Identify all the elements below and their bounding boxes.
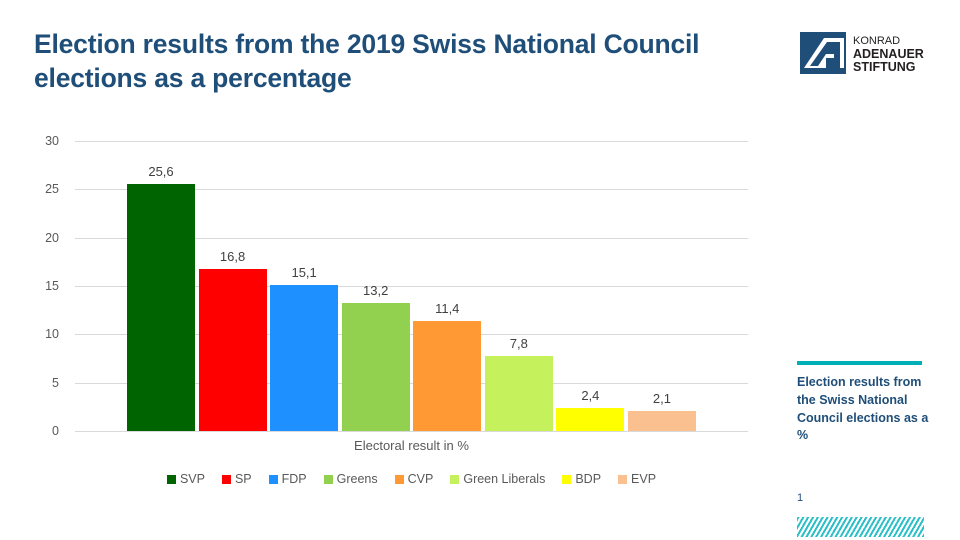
legend-item[interactable]: BDP <box>562 472 601 486</box>
logo-line-1: KONRAD <box>853 35 900 47</box>
bar-slot: 2,4 <box>556 141 624 431</box>
y-axis-tick-label: 10 <box>19 327 59 341</box>
legend-swatch <box>450 475 459 484</box>
plot-area: 051015202530 25,616,815,113,211,47,82,42… <box>75 141 748 431</box>
bar-value-label: 15,1 <box>291 265 316 280</box>
legend-swatch <box>562 475 571 484</box>
logo-line-3: STIFTUNG <box>853 60 916 74</box>
chart-legend: SVPSPFDPGreensCVPGreen LiberalsBDPEVP <box>75 472 748 486</box>
y-axis-tick-label: 15 <box>19 279 59 293</box>
bar-value-label: 2,1 <box>653 391 671 406</box>
bar-value-label: 25,6 <box>148 164 173 179</box>
y-axis-tick-label: 0 <box>19 424 59 438</box>
y-axis-tick-label: 25 <box>19 182 59 196</box>
y-axis-tick-label: 30 <box>19 134 59 148</box>
bar-slot: 13,2 <box>342 141 410 431</box>
page-number: 1 <box>797 492 803 504</box>
logo-line-2: ADENAUER <box>853 47 924 61</box>
y-axis-tick-label: 5 <box>19 376 59 390</box>
bar-series: 25,616,815,113,211,47,82,42,1 <box>75 141 748 431</box>
bar-value-label: 13,2 <box>363 283 388 298</box>
legend-label: SP <box>235 472 252 486</box>
bar-slot: 16,8 <box>199 141 267 431</box>
gridline <box>75 431 748 432</box>
bar[interactable] <box>199 269 267 431</box>
sidebar-caption: Election results from the Swiss National… <box>797 374 929 445</box>
bar[interactable] <box>485 356 553 431</box>
konrad-adenauer-stiftung-logo: KONRAD ADENAUER STIFTUNG <box>800 32 932 74</box>
bar[interactable] <box>628 411 696 431</box>
legend-item[interactable]: FDP <box>269 472 307 486</box>
legend-swatch <box>269 475 278 484</box>
legend-label: EVP <box>631 472 656 486</box>
bar-slot: 11,4 <box>413 141 481 431</box>
bar[interactable] <box>413 321 481 431</box>
legend-swatch <box>618 475 627 484</box>
legend-item[interactable]: EVP <box>618 472 656 486</box>
bar-chart: 051015202530 25,616,815,113,211,47,82,42… <box>0 120 760 500</box>
bar[interactable] <box>270 285 338 431</box>
legend-label: Greens <box>337 472 378 486</box>
bar[interactable] <box>127 184 195 431</box>
logo-mark-icon: KONRAD ADENAUER STIFTUNG <box>800 32 932 74</box>
bar-slot: 25,6 <box>127 141 195 431</box>
legend-swatch <box>222 475 231 484</box>
legend-swatch <box>324 475 333 484</box>
bar-slot: 15,1 <box>270 141 338 431</box>
legend-label: BDP <box>575 472 601 486</box>
bar[interactable] <box>342 303 410 431</box>
page-title: Election results from the 2019 Swiss Nat… <box>34 28 714 96</box>
legend-label: SVP <box>180 472 205 486</box>
bar-value-label: 11,4 <box>435 301 459 316</box>
legend-swatch <box>395 475 404 484</box>
legend-swatch <box>167 475 176 484</box>
bar-value-label: 16,8 <box>220 249 245 264</box>
legend-item[interactable]: Greens <box>324 472 378 486</box>
legend-item[interactable]: Green Liberals <box>450 472 545 486</box>
x-axis-label: Electoral result in % <box>75 438 748 453</box>
bar-slot: 7,8 <box>485 141 553 431</box>
sidebar-rule <box>797 361 922 365</box>
legend-item[interactable]: SP <box>222 472 252 486</box>
legend-label: CVP <box>408 472 434 486</box>
y-axis-tick-label: 20 <box>19 231 59 245</box>
legend-label: Green Liberals <box>463 472 545 486</box>
legend-item[interactable]: SVP <box>167 472 205 486</box>
bar[interactable] <box>556 408 624 431</box>
bar-value-label: 2,4 <box>581 388 599 403</box>
bar-slot: 2,1 <box>628 141 696 431</box>
legend-label: FDP <box>282 472 307 486</box>
bar-value-label: 7,8 <box>510 336 528 351</box>
hatch-decoration <box>797 517 924 537</box>
legend-item[interactable]: CVP <box>395 472 434 486</box>
